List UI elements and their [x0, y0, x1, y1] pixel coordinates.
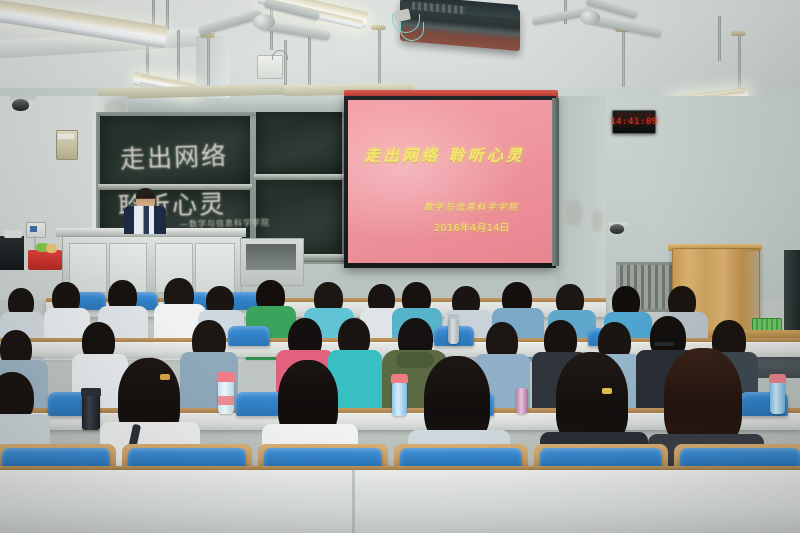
- hair-clip: [602, 388, 612, 394]
- led-clock: 14:41:09: [612, 110, 656, 134]
- lamp-rod: [738, 34, 741, 90]
- screen-title: 走出网络 聆听心灵: [364, 142, 525, 166]
- blackboard-panel-upper-right: [256, 112, 342, 174]
- front-desk: [0, 470, 800, 533]
- speaker-torso: [124, 206, 166, 234]
- bottle-cap: [217, 372, 235, 382]
- thermos-silver: [448, 318, 459, 344]
- bottle-cap: [391, 374, 408, 383]
- student-hood: [396, 352, 434, 368]
- switch-panel: [26, 222, 46, 238]
- wall-stain: [566, 200, 582, 226]
- shelf-opening: [246, 244, 296, 270]
- electrical-box-label: [58, 134, 74, 139]
- bottle-band: [218, 396, 234, 405]
- projection-screen: 走出网络 聆听心灵 数学与信息科学学院 2016年4月14日: [348, 100, 552, 263]
- stool-object-tan: [46, 244, 57, 253]
- bottle-blue: [770, 382, 785, 414]
- desk-seam: [352, 470, 355, 533]
- wall-stain: [592, 210, 602, 232]
- security-camera-icon: [610, 224, 624, 234]
- screen-organization: 数学与信息科学学院: [424, 200, 519, 213]
- bottle-purple: [516, 388, 528, 414]
- switch-toggle[interactable]: [30, 226, 37, 232]
- red-stool: [28, 250, 62, 270]
- led-clock-dots: [617, 113, 651, 116]
- led-clock-digits: 14:41:09: [610, 117, 657, 127]
- security-camera-icon: [12, 99, 29, 111]
- lamp-rod: [718, 16, 721, 61]
- screen-date: 2016年4月14日: [434, 220, 510, 234]
- fan-blade: [590, 15, 662, 38]
- equipment-top: [4, 230, 22, 238]
- rod-cap: [731, 31, 746, 36]
- bottle-blue: [392, 382, 407, 416]
- fan-hub: [580, 10, 600, 25]
- equipment-dark: [0, 236, 24, 270]
- tumbler-dark: [82, 394, 100, 430]
- ceiling-fan-left: [198, 4, 338, 44]
- seat[interactable]: [236, 392, 284, 416]
- ceiling-fan-right: [532, 4, 667, 44]
- tumbler-cap: [81, 388, 101, 396]
- screen-edge: [552, 98, 559, 266]
- lecture-hall-photo: 走出网络 聆听心灵 —数学与信息科学学院 走出网络 聆听心灵 数学与信息科学学院…: [0, 0, 800, 533]
- wall-box-cable: [272, 50, 288, 60]
- fan-hub: [253, 14, 275, 30]
- hair-clip: [160, 374, 170, 380]
- glasses-icon: [654, 342, 674, 346]
- seat[interactable]: [228, 326, 270, 346]
- wall-between: [556, 96, 606, 301]
- blackboard-line1: 走出网络: [119, 136, 228, 176]
- rod-cap: [371, 25, 386, 30]
- bottle-cap: [769, 374, 786, 383]
- chalk-ledge: [254, 174, 344, 180]
- thermos-cap: [448, 314, 459, 319]
